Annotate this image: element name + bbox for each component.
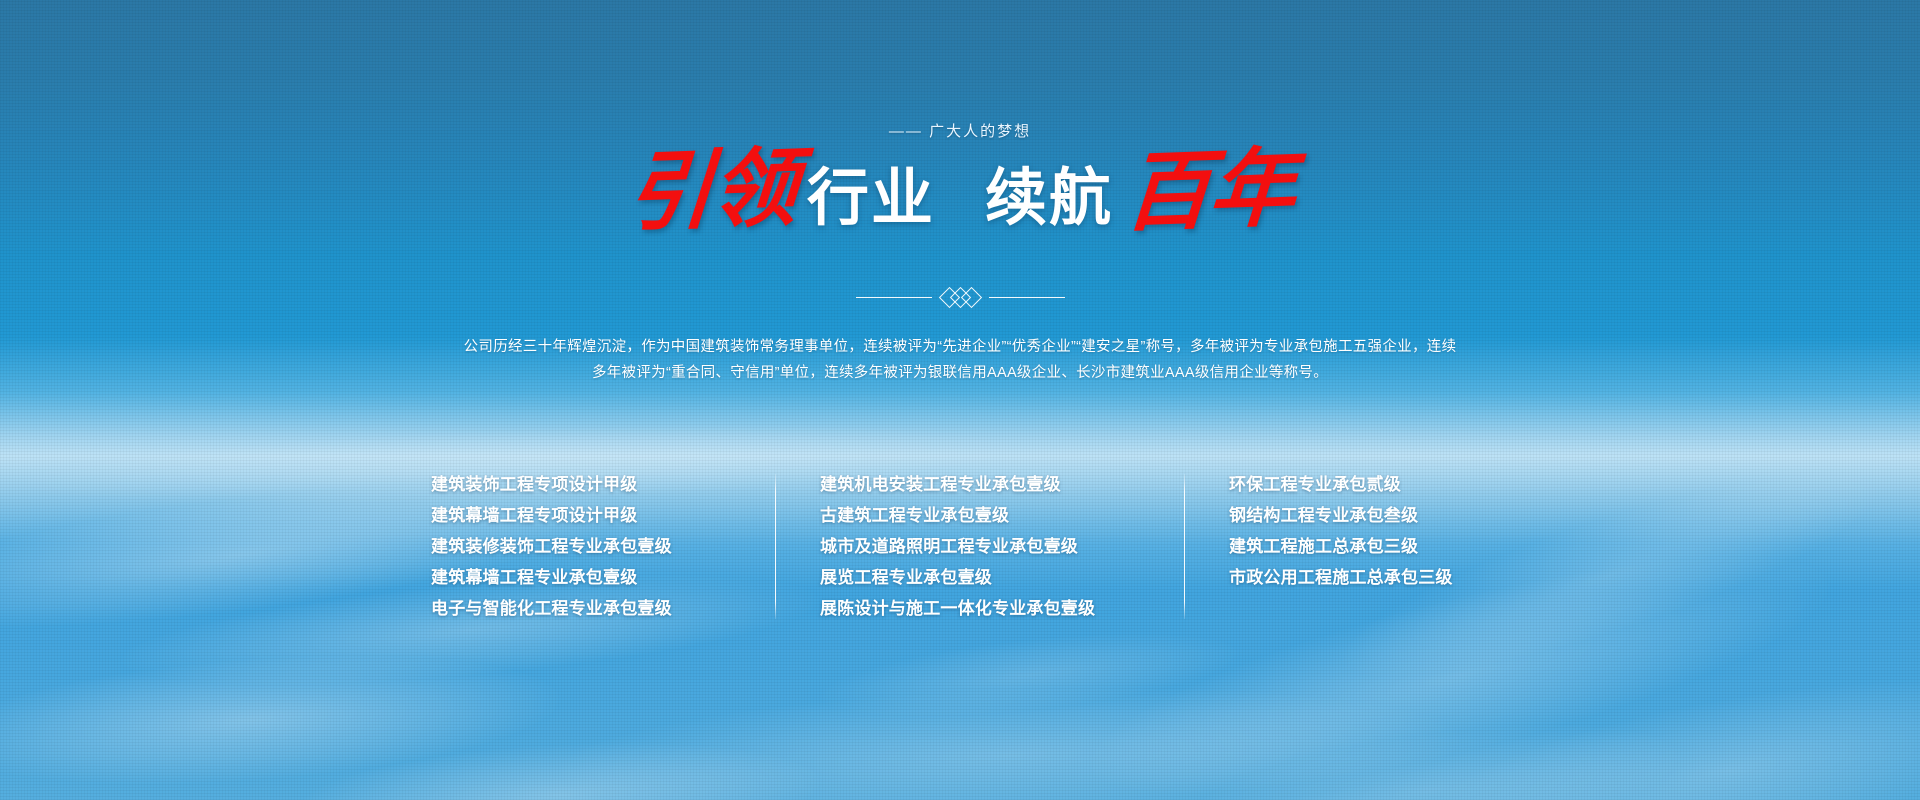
qualification-item: 建筑幕墙工程专业承包壹级: [431, 565, 731, 590]
qualification-item: 钢结构工程专业承包叁级: [1229, 503, 1489, 528]
headline-brush-part-4: 百年: [1118, 145, 1301, 237]
headline-brush-part-1: 引领: [620, 145, 803, 237]
divider-diamonds: [942, 290, 979, 305]
qualification-item: 建筑装饰工程专项设计甲级: [431, 472, 731, 497]
description-line-1: 公司历经三十年辉煌沉淀，作为中国建筑装饰常务理事单位，连续被评为“先进企业”“优…: [430, 334, 1490, 360]
company-description: 公司历经三十年辉煌沉淀，作为中国建筑装饰常务理事单位，连续被评为“先进企业”“优…: [430, 334, 1490, 386]
qualification-item: 展陈设计与施工一体化专业承包壹级: [820, 596, 1140, 621]
qualification-column-3: 环保工程专业承包贰级 钢结构工程专业承包叁级 建筑工程施工总承包三级 市政公用工…: [1185, 472, 1489, 590]
headline-plain-part-2: 行业: [799, 168, 943, 230]
qualification-item: 展览工程专业承包壹级: [820, 565, 1140, 590]
headline: 引领 行业 续航 百年: [0, 148, 1920, 234]
description-line-2: 多年被评为“重合同、守信用”单位，连续多年被评为银联信用AAA级企业、长沙市建筑…: [430, 360, 1490, 386]
qualification-item: 环保工程专业承包贰级: [1229, 472, 1489, 497]
qualification-item: 建筑装修装饰工程专业承包壹级: [431, 534, 731, 559]
qualification-column-2: 建筑机电安装工程专业承包壹级 古建筑工程专业承包壹级 城市及道路照明工程专业承包…: [776, 472, 1184, 621]
tagline: —— 广大人的梦想: [0, 120, 1920, 141]
diamond-divider-icon: [0, 290, 1920, 305]
qualification-item: 市政公用工程施工总承包三级: [1229, 565, 1489, 590]
qualification-item: 建筑幕墙工程专项设计甲级: [431, 503, 731, 528]
banner-content: —— 广大人的梦想 引领 行业 续航 百年 公司历经三十年辉煌沉淀，作为中国建筑…: [0, 0, 1920, 800]
qualification-item: 城市及道路照明工程专业承包壹级: [820, 534, 1140, 559]
banner-stage: —— 广大人的梦想 引领 行业 续航 百年 公司历经三十年辉煌沉淀，作为中国建筑…: [0, 0, 1920, 800]
qualification-item: 建筑机电安装工程专业承包壹级: [820, 472, 1140, 497]
qualification-column-1: 建筑装饰工程专项设计甲级 建筑幕墙工程专项设计甲级 建筑装修装饰工程专业承包壹级…: [431, 472, 775, 621]
qualification-list: 建筑装饰工程专项设计甲级 建筑幕墙工程专项设计甲级 建筑装修装饰工程专业承包壹级…: [431, 472, 1489, 621]
divider-rule-right: [989, 297, 1065, 298]
qualification-item: 电子与智能化工程专业承包壹级: [431, 596, 731, 621]
headline-plain-part-3: 续航: [977, 168, 1121, 230]
qualification-item: 古建筑工程专业承包壹级: [820, 503, 1140, 528]
qualification-item: 建筑工程施工总承包三级: [1229, 534, 1489, 559]
divider-rule-left: [856, 297, 932, 298]
